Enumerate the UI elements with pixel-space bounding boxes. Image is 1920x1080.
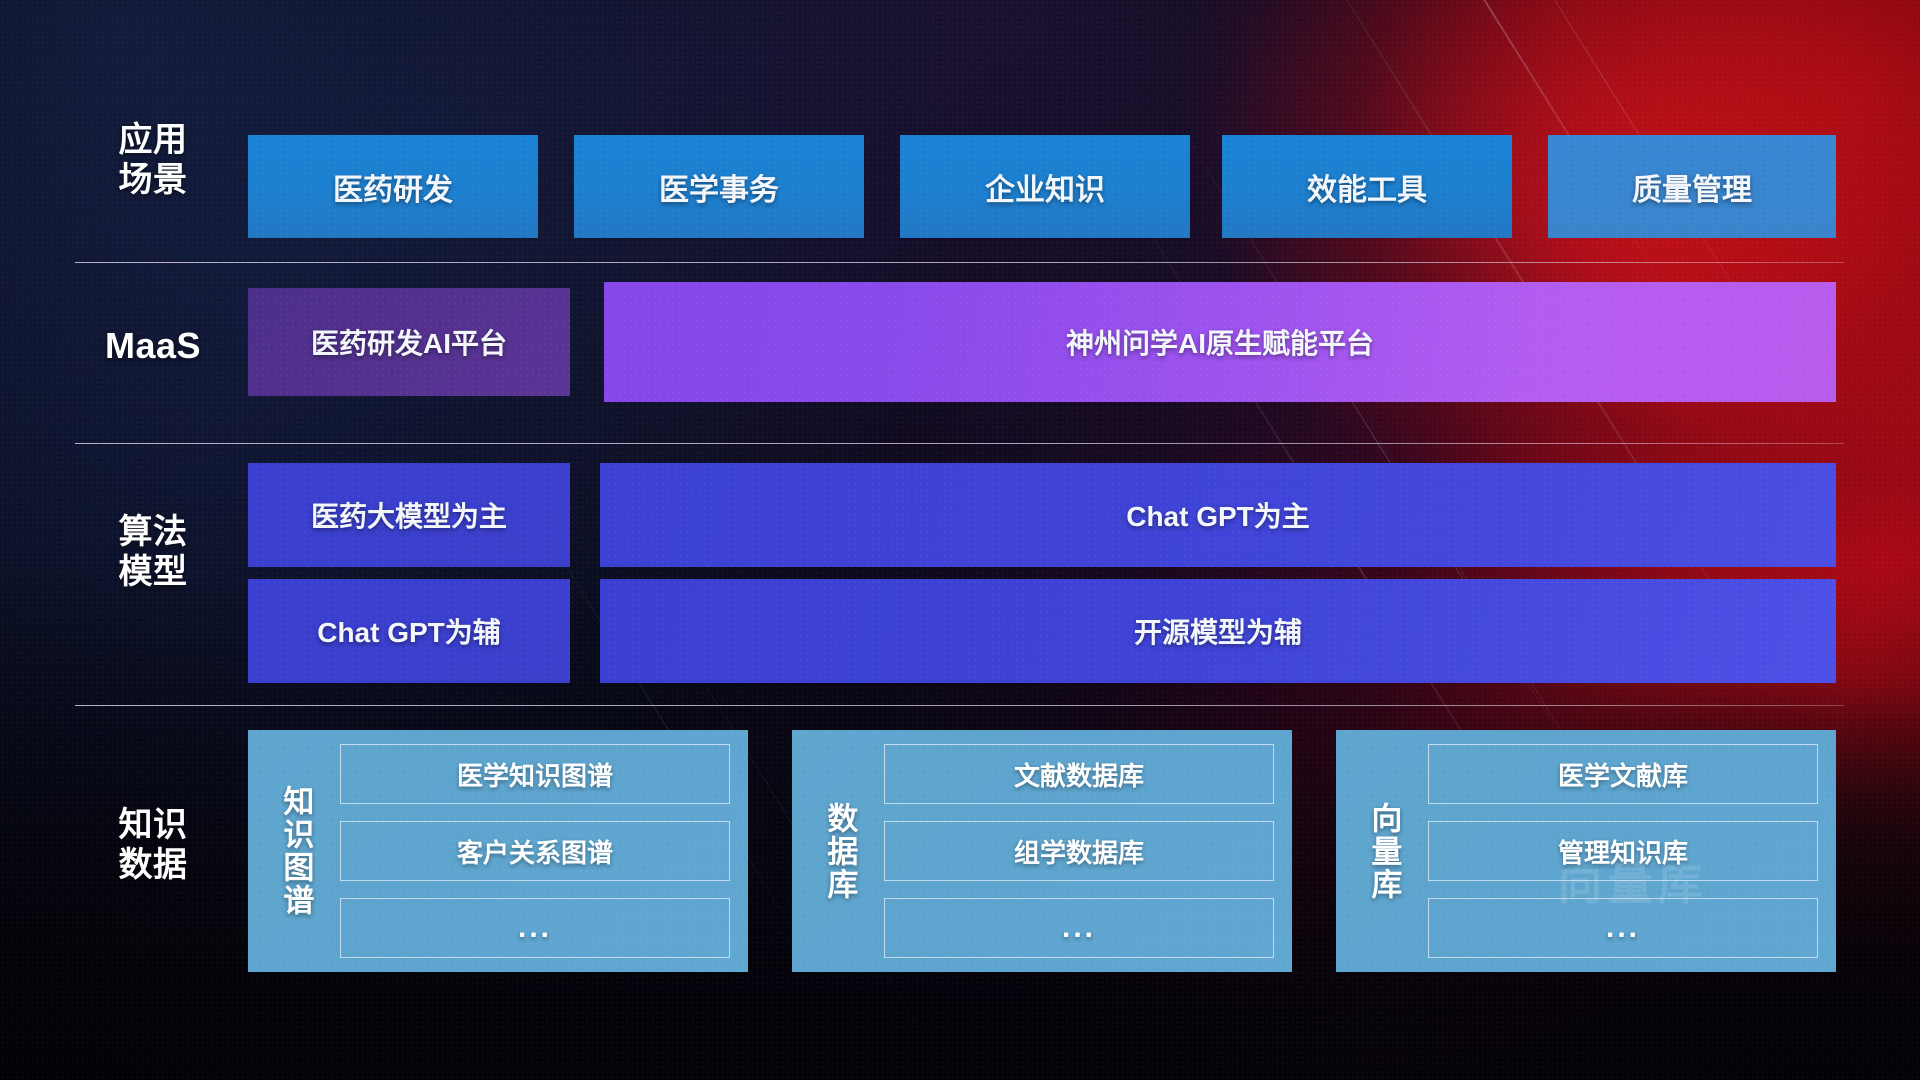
knowledge-item-more[interactable]: ... bbox=[884, 898, 1274, 958]
knowledge-group-title: 知识图谱 bbox=[264, 744, 326, 958]
app-scenario-label: 质量管理 bbox=[1632, 165, 1752, 209]
algorithm-card-label: Chat GPT为辅 bbox=[317, 611, 501, 651]
row-label-application-scenarios: 应用 场景 bbox=[78, 120, 228, 200]
knowledge-item[interactable]: 医学知识图谱 bbox=[340, 744, 730, 804]
maas-card-medicine-ai-platform[interactable]: 医药研发AI平台 bbox=[248, 288, 570, 396]
knowledge-group-database[interactable]: 数据库 文献数据库 组学数据库 ... bbox=[792, 730, 1292, 972]
maas-card-shenzhou-wenxue-platform[interactable]: 神州问学AI原生赋能平台 bbox=[604, 282, 1836, 402]
row-label-knowledge-data: 知识 数据 bbox=[78, 805, 228, 885]
algorithm-card-open-source-model-secondary[interactable]: 开源模型为辅 bbox=[600, 579, 1836, 683]
knowledge-item-list: 医学文献库 管理知识库 ... bbox=[1428, 744, 1818, 958]
app-scenario-card-efficiency-tools[interactable]: 效能工具 bbox=[1222, 135, 1512, 238]
app-scenario-card-enterprise-knowledge[interactable]: 企业知识 bbox=[900, 135, 1190, 238]
knowledge-item-list: 文献数据库 组学数据库 ... bbox=[884, 744, 1274, 958]
knowledge-group-title: 向量库 bbox=[1352, 744, 1414, 958]
row-label-maas: MaaS bbox=[78, 325, 228, 367]
maas-card-label: 神州问学AI原生赋能平台 bbox=[1066, 322, 1374, 362]
knowledge-group-vector-store[interactable]: 向量库 向量库 医学文献库 管理知识库 ... bbox=[1336, 730, 1836, 972]
knowledge-item-more[interactable]: ... bbox=[340, 898, 730, 958]
knowledge-group-title: 数据库 bbox=[808, 744, 870, 958]
app-scenario-label: 效能工具 bbox=[1307, 165, 1427, 209]
algorithm-card-medicine-large-model-primary[interactable]: 医药大模型为主 bbox=[248, 463, 570, 567]
app-scenario-label: 企业知识 bbox=[985, 165, 1105, 209]
knowledge-item-list: 医学知识图谱 客户关系图谱 ... bbox=[340, 744, 730, 958]
algorithm-card-label: 开源模型为辅 bbox=[1134, 611, 1302, 651]
row-label-algorithm-model: 算法 模型 bbox=[78, 512, 228, 592]
row-divider-1 bbox=[75, 262, 1844, 263]
knowledge-group-knowledge-graph[interactable]: 知识图谱 医学知识图谱 客户关系图谱 ... bbox=[248, 730, 748, 972]
knowledge-item[interactable]: 管理知识库 bbox=[1428, 821, 1818, 881]
knowledge-item[interactable]: 医学文献库 bbox=[1428, 744, 1818, 804]
app-scenario-label: 医药研发 bbox=[333, 165, 453, 209]
knowledge-item[interactable]: 组学数据库 bbox=[884, 821, 1274, 881]
knowledge-item-more[interactable]: ... bbox=[1428, 898, 1818, 958]
algorithm-card-chatgpt-secondary[interactable]: Chat GPT为辅 bbox=[248, 579, 570, 683]
row-divider-3 bbox=[75, 705, 1844, 706]
app-scenario-card-medical-affairs[interactable]: 医学事务 bbox=[574, 135, 864, 238]
app-scenario-card-medicine-rd[interactable]: 医药研发 bbox=[248, 135, 538, 238]
maas-card-label: 医药研发AI平台 bbox=[311, 322, 507, 362]
row-divider-2 bbox=[75, 443, 1844, 444]
architecture-diagram: 应用 场景 医药研发 医学事务 企业知识 效能工具 质量管理 MaaS 医药研发… bbox=[0, 0, 1920, 1080]
algorithm-card-label: 医药大模型为主 bbox=[311, 495, 507, 535]
knowledge-item[interactable]: 文献数据库 bbox=[884, 744, 1274, 804]
knowledge-item[interactable]: 客户关系图谱 bbox=[340, 821, 730, 881]
algorithm-card-chatgpt-primary[interactable]: Chat GPT为主 bbox=[600, 463, 1836, 567]
app-scenario-card-quality-management[interactable]: 质量管理 bbox=[1548, 135, 1836, 238]
app-scenario-label: 医学事务 bbox=[659, 165, 779, 209]
algorithm-card-label: Chat GPT为主 bbox=[1126, 495, 1310, 535]
